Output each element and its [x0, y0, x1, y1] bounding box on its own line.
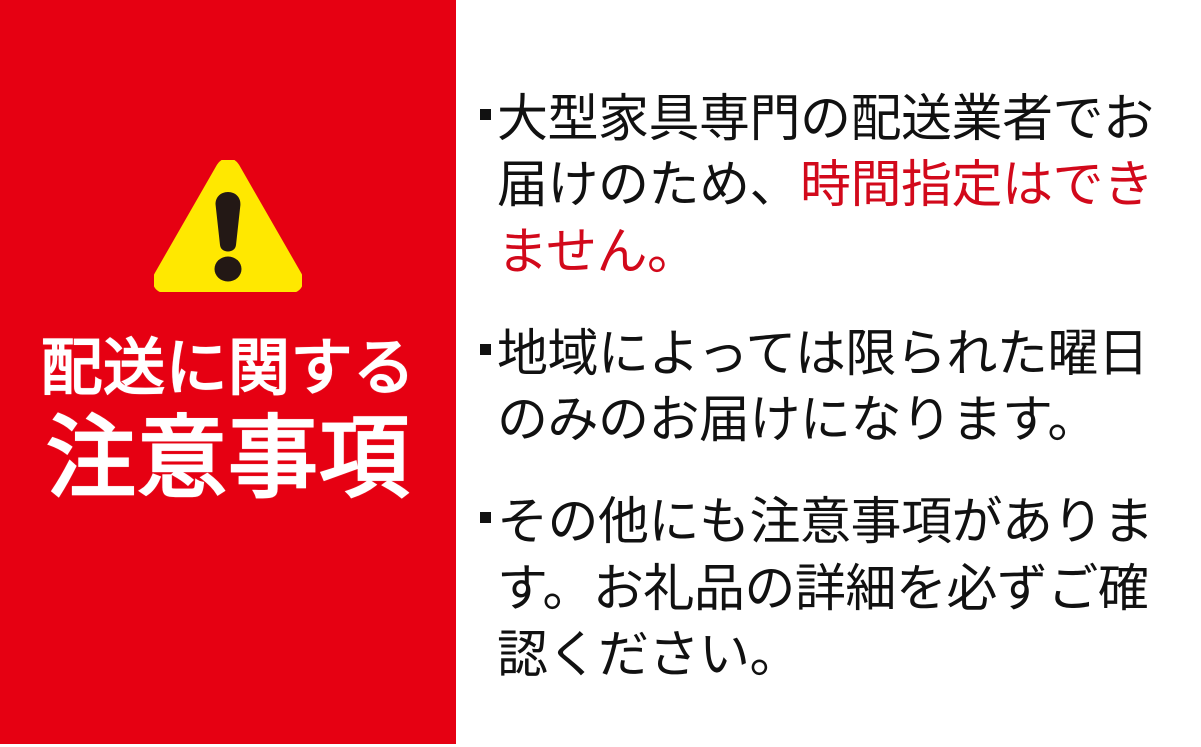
bullet-square-icon: [480, 512, 491, 523]
bullet-square-icon: [480, 109, 491, 120]
delivery-notice-poster: 配送に関する 注意事項 大型家具専門の配送業者でお届けのため、時間指定はできませ…: [0, 0, 1201, 747]
note-segment-plain: その他にも注意事項があります。お礼品の詳細を必ずご確認ください。: [497, 493, 1154, 683]
notes-list: 大型家具専門の配送業者でお届けのため、時間指定はできません。 地域によっては限ら…: [480, 86, 1180, 688]
note-text-time-designation: 大型家具専門の配送業者でお届けのため、時間指定はできません。: [497, 86, 1180, 285]
list-item: 地域によっては限られた曜日のみのお届けになります。: [480, 321, 1180, 454]
bullet-square-icon: [480, 344, 491, 355]
note-text-check-details: その他にも注意事項があります。お礼品の詳細を必ずご確認ください。: [497, 489, 1180, 688]
list-item: 大型家具専門の配送業者でお届けのため、時間指定はできません。: [480, 86, 1180, 285]
list-item: その他にも注意事項があります。お礼品の詳細を必ずご確認ください。: [480, 489, 1180, 688]
exclamation-dot: [215, 257, 242, 282]
headline-line-2: 注意事項: [0, 414, 456, 504]
note-text-limited-days: 地域によっては限られた曜日のみのお届けになります。: [497, 321, 1180, 454]
headline-line-1: 配送に関する: [0, 338, 456, 400]
note-segment-plain: 地域によっては限られた曜日のみのお届けになります。: [497, 325, 1148, 448]
panel-headline: 配送に関する 注意事項: [0, 338, 456, 504]
red-headline-panel: 配送に関する 注意事項: [0, 0, 456, 744]
warning-triangle-icon: [154, 160, 302, 292]
